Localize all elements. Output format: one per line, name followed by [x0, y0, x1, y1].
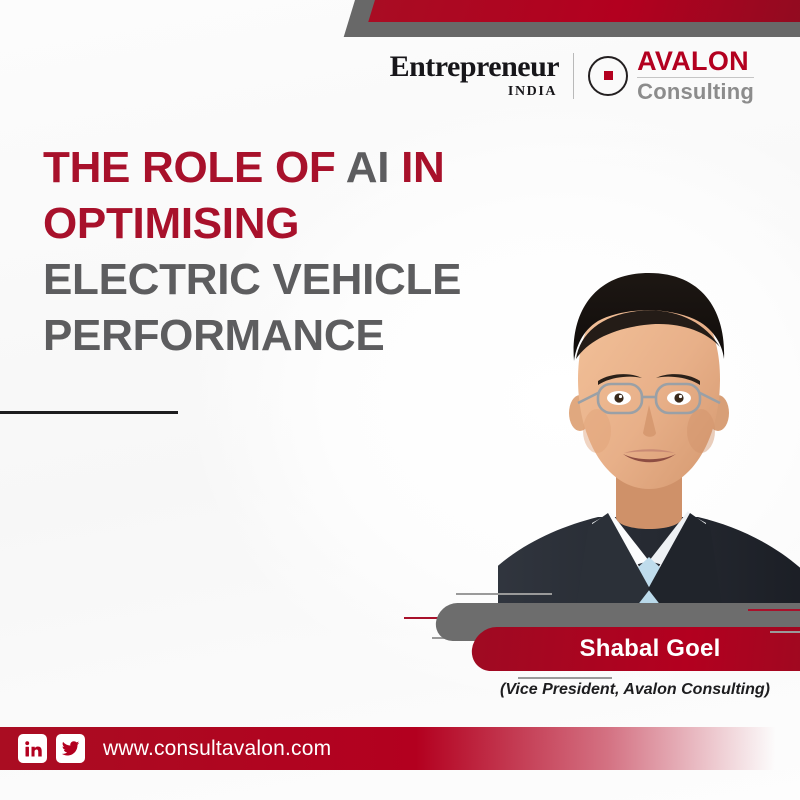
footer-bar: www.consultavalon.com — [0, 727, 800, 770]
entrepreneur-india-logo: Entrepreneur INDIA — [390, 52, 560, 99]
headline-line-4: PERFORMANCE — [43, 308, 513, 364]
entrepreneur-india-subtext: INDIA — [508, 85, 557, 99]
speaker-name: Shabal Goel — [500, 635, 800, 663]
headline-part-ai: AI — [346, 143, 401, 192]
headline-line-2: OPTIMISING — [43, 196, 513, 252]
deco-line-right-red — [748, 609, 800, 611]
logo-divider — [573, 53, 574, 99]
top-banner-red-stripe — [368, 0, 800, 22]
website-url[interactable]: www.consultavalon.com — [103, 737, 331, 761]
top-angled-banner — [0, 0, 800, 46]
headline-block: THE ROLE OF AI IN OPTIMISING ELECTRIC VE… — [43, 140, 513, 364]
headline-underline-rule — [0, 411, 178, 414]
linkedin-icon[interactable] — [18, 734, 47, 763]
deco-line-right-gray — [770, 631, 800, 633]
twitter-icon[interactable] — [56, 734, 85, 763]
poster-canvas: Entrepreneur INDIA AVALON Consulting THE… — [0, 0, 800, 800]
headline-line-1: THE ROLE OF AI IN — [43, 140, 513, 196]
headline-part-in: IN — [401, 143, 444, 192]
logo-lockup: Entrepreneur INDIA AVALON Consulting — [390, 48, 754, 103]
speaker-badge: Shabal Goel (Vice President, Avalon Cons… — [0, 585, 800, 715]
avalon-consulting-logo: AVALON Consulting — [588, 48, 754, 103]
headline-line-3: ELECTRIC VEHICLE — [43, 252, 513, 308]
twitter-bird-glyph — [61, 739, 80, 758]
deco-line-above-title — [518, 677, 612, 679]
avalon-wordmark: AVALON — [637, 48, 754, 75]
deco-line-top-gray — [456, 593, 552, 595]
speaker-title: (Vice President, Avalon Consulting) — [470, 681, 800, 699]
consulting-wordmark: Consulting — [637, 81, 754, 103]
linkedin-glyph — [24, 740, 42, 758]
avalon-wordmark-group: AVALON Consulting — [637, 48, 754, 103]
avalon-wordmark-rule — [637, 77, 754, 78]
headline-part-the-role-of: THE ROLE OF — [43, 143, 346, 192]
entrepreneur-wordmark: Entrepreneur — [390, 52, 560, 82]
circle-square-logo-icon — [588, 56, 628, 96]
speaker-portrait — [498, 255, 800, 633]
speaker-portrait-illustration — [498, 255, 800, 633]
